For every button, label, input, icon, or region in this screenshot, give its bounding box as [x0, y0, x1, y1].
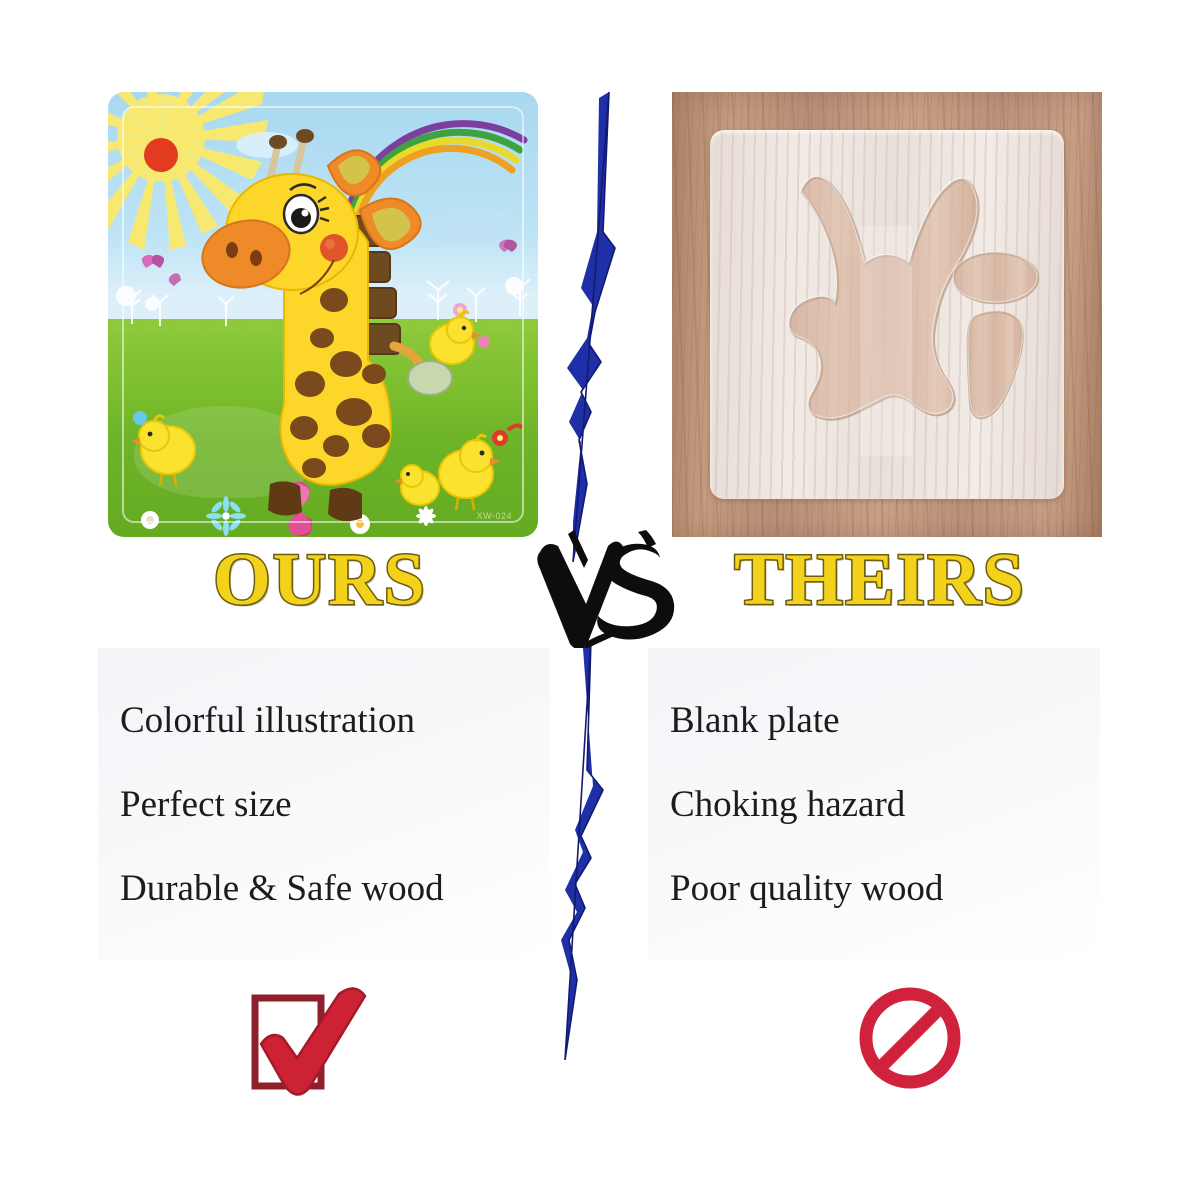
- list-item: Choking hazard: [670, 784, 1100, 825]
- list-item: Durable & Safe wood: [120, 868, 550, 909]
- giraffe-puzzle-artwork: XW-024: [108, 92, 538, 537]
- wooden-puzzle-inset: [710, 130, 1064, 499]
- list-item: Poor quality wood: [670, 868, 1100, 909]
- chicks-illustration: [108, 92, 538, 537]
- flower-icon: [492, 425, 522, 446]
- vs-badge: [528, 528, 678, 648]
- theirs-feature-panel: Blank plate Choking hazard Poor quality …: [648, 648, 1100, 960]
- chick-icon: [430, 312, 481, 364]
- chick-icon: [131, 411, 195, 486]
- theirs-feature-list: Blank plate Choking hazard Poor quality …: [648, 648, 1100, 909]
- carrot-piece: [968, 312, 1023, 418]
- chick-icon: [394, 465, 439, 505]
- ours-product-image: XW-024: [108, 92, 538, 537]
- ours-feature-panel: Colorful illustration Perfect size Durab…: [98, 648, 550, 960]
- chick-icon: [439, 435, 500, 510]
- lightning-divider-top: [543, 92, 653, 562]
- list-item: Blank plate: [670, 700, 1100, 741]
- list-item: Perfect size: [120, 784, 550, 825]
- theirs-heading: THEIRS: [660, 543, 1100, 617]
- prohibition-icon: [825, 982, 995, 1097]
- theirs-product-image: [672, 92, 1102, 537]
- lightning-divider-bottom: [543, 640, 653, 1060]
- list-item: Colorful illustration: [120, 700, 550, 741]
- product-code-watermark: XW-024: [477, 511, 512, 521]
- rabbit-cutout-shapes: [710, 130, 1064, 499]
- wooden-board: [672, 92, 1102, 537]
- ours-heading: OURS: [100, 543, 540, 617]
- check-mark-icon: [235, 982, 405, 1097]
- ours-feature-list: Colorful illustration Perfect size Durab…: [98, 648, 550, 909]
